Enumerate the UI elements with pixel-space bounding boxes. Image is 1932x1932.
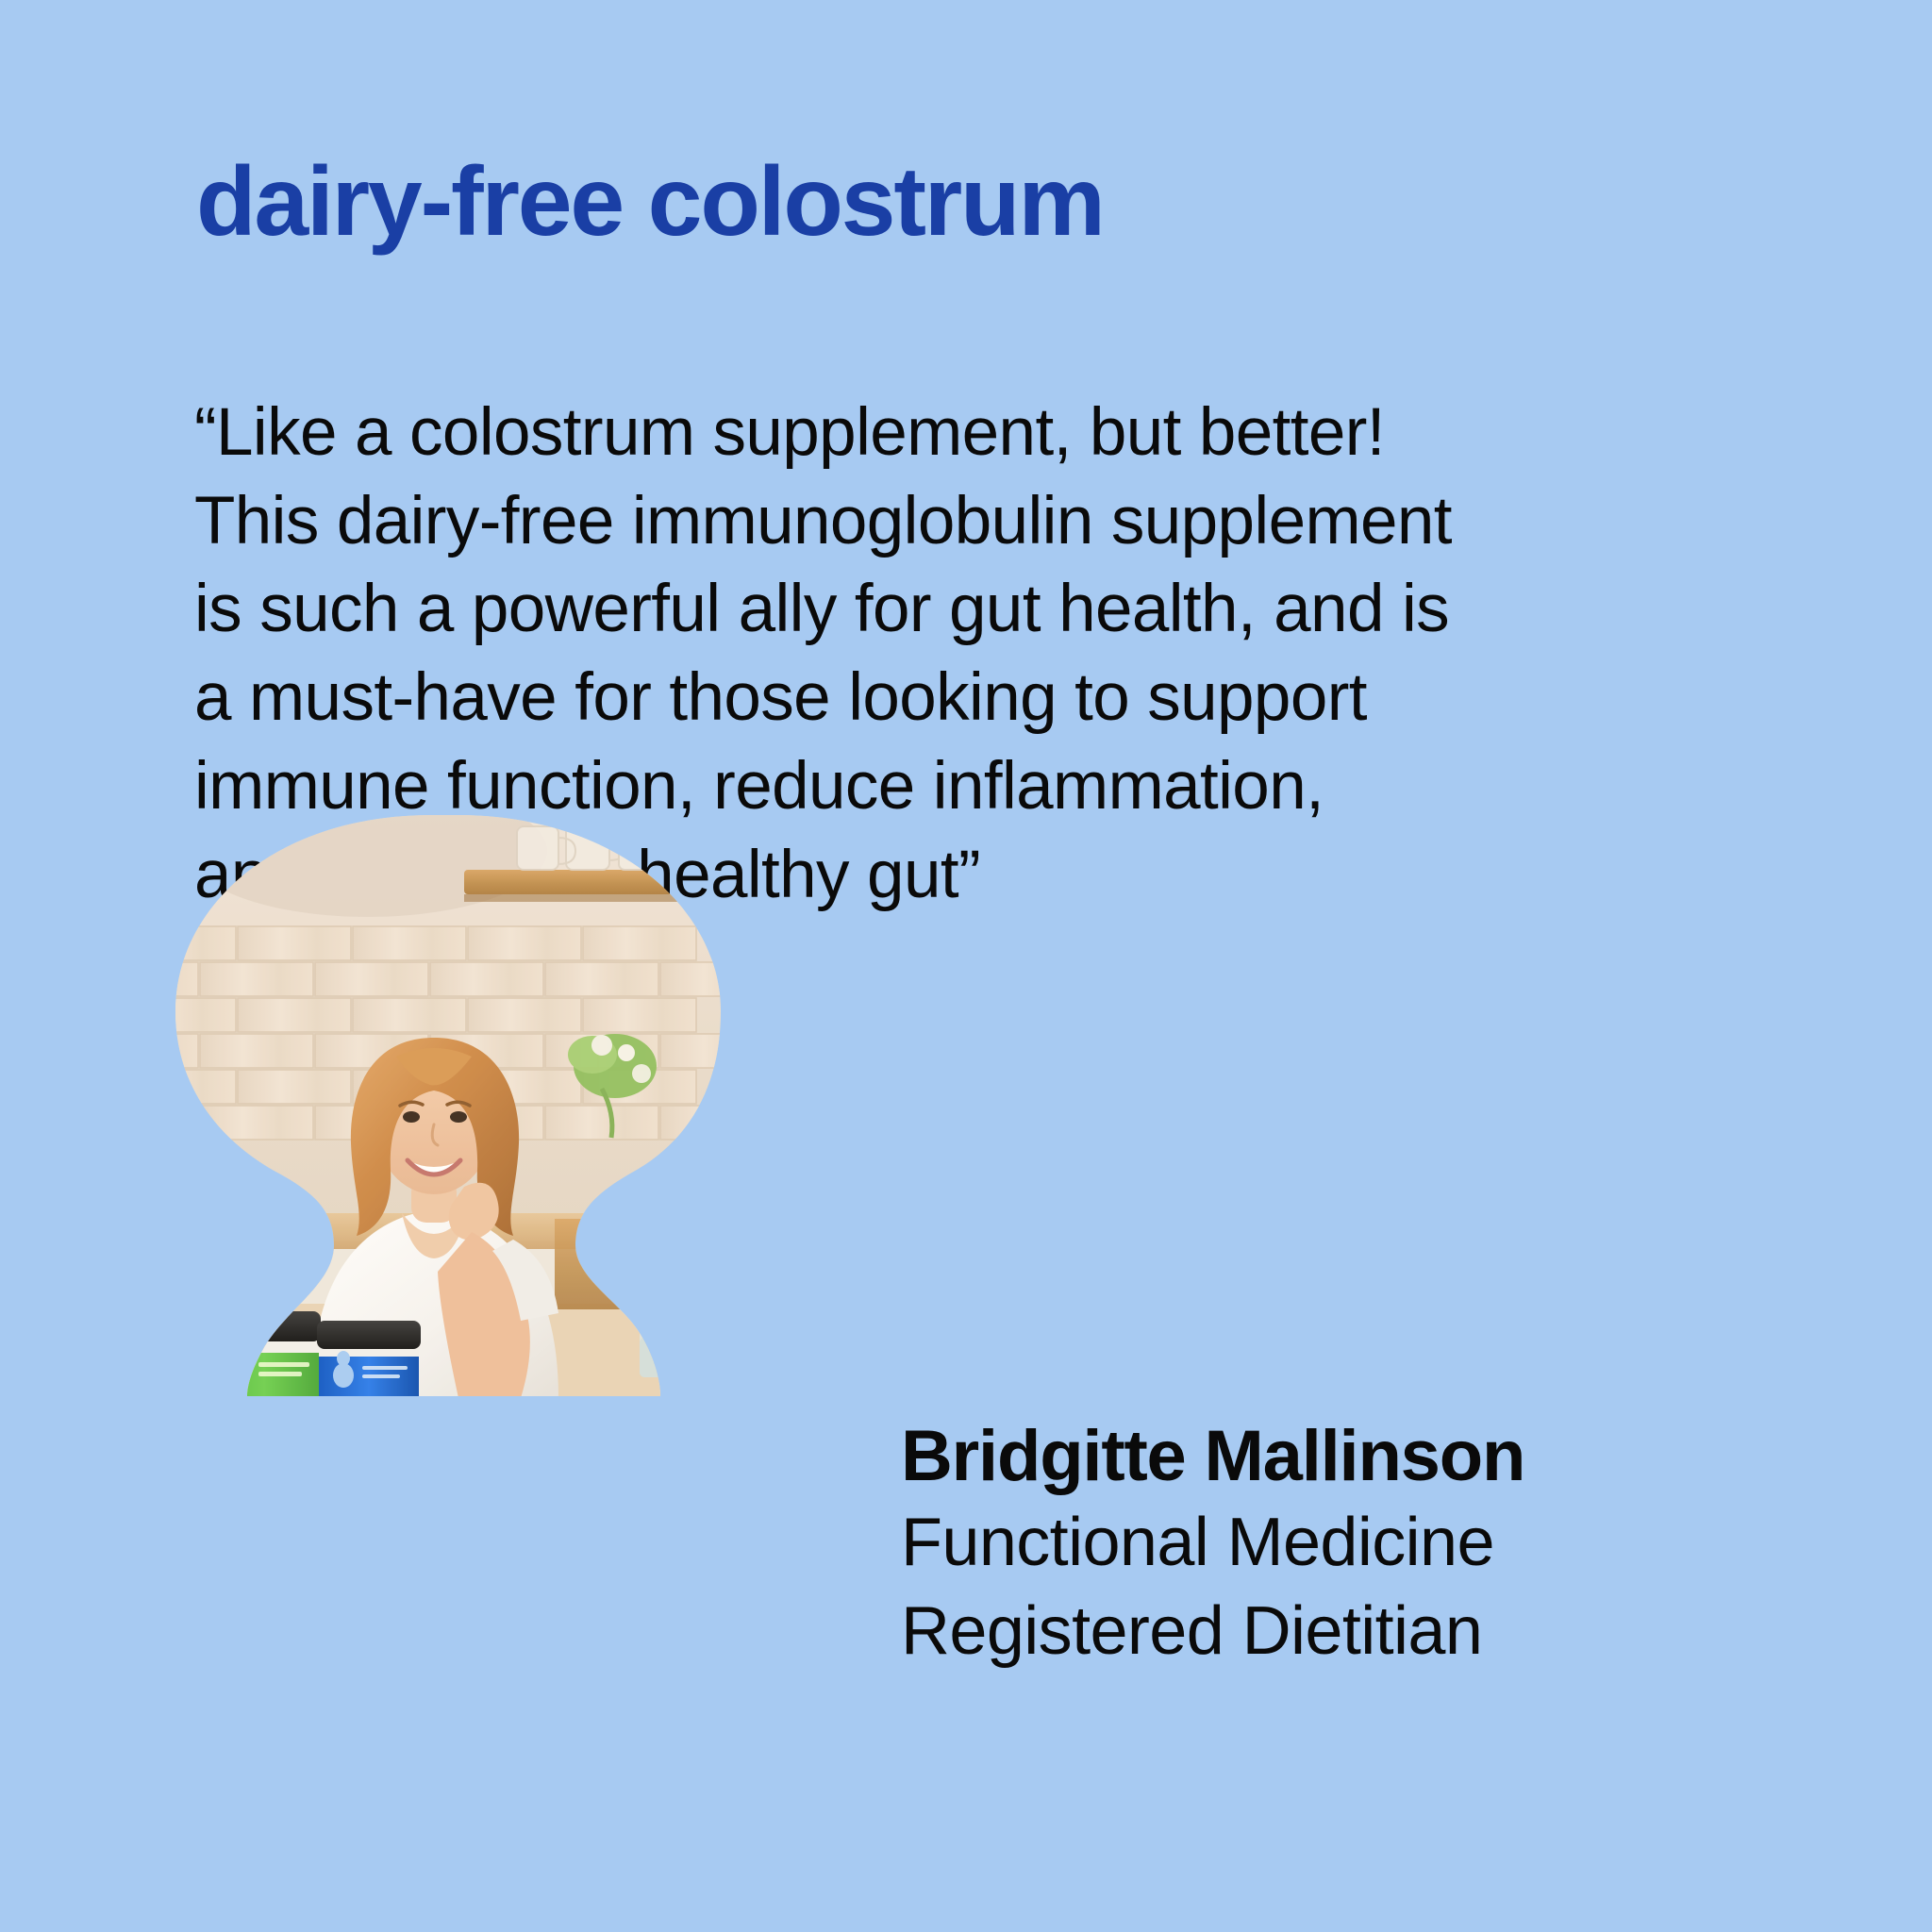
page-title: dairy-free colostrum	[196, 153, 1104, 251]
attribution-block: Bridgitte Mallinson Functional Medicine …	[901, 1413, 1797, 1675]
quote-line: “Like a colostrum supplement, but better…	[194, 389, 1817, 477]
photo-blob-shape	[132, 813, 736, 1398]
testimonial-card: dairy-free colostrum “Like a colostrum s…	[0, 0, 1932, 1932]
quote-line: is such a powerful ally for gut health, …	[194, 565, 1817, 654]
testimonial-photo	[132, 813, 736, 1398]
attribution-name: Bridgitte Mallinson	[901, 1413, 1797, 1499]
quote-line: This dairy-free immunoglobulin supplemen…	[194, 477, 1817, 566]
attribution-role-1: Functional Medicine	[901, 1499, 1797, 1588]
attribution-role-2: Registered Dietitian	[901, 1588, 1797, 1676]
quote-line: a must-have for those looking to support	[194, 654, 1817, 742]
